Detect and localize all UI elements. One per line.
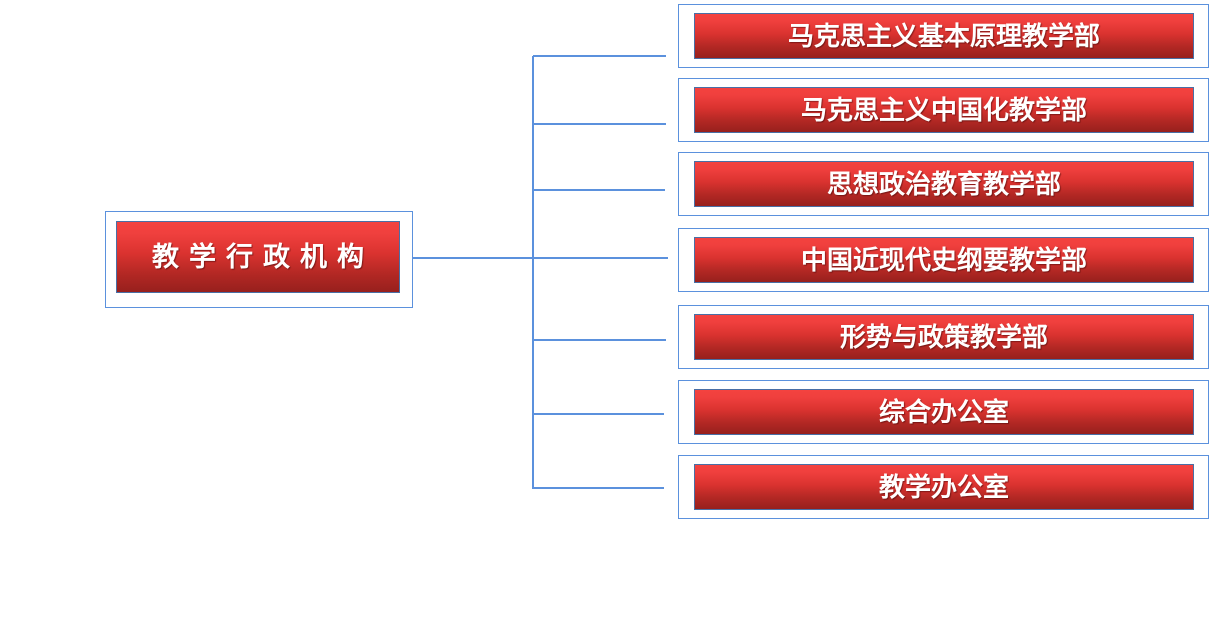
org-node-child-4-label: 中国近现代史纲要教学部: [801, 247, 1087, 273]
org-node-child-1-plate: 马克思主义基本原理教学部: [694, 13, 1194, 59]
org-node-child-5[interactable]: 形势与政策教学部: [678, 305, 1209, 369]
org-node-root-plate: 教学行政机构: [116, 221, 400, 293]
org-node-child-6-label: 综合办公室: [879, 399, 1009, 425]
org-node-child-3-label: 思想政治教育教学部: [827, 171, 1061, 197]
org-node-child-7-plate: 教学办公室: [694, 464, 1194, 510]
org-node-child-2-label: 马克思主义中国化教学部: [801, 97, 1087, 123]
org-node-child-4[interactable]: 中国近现代史纲要教学部: [678, 228, 1209, 292]
org-node-child-5-plate: 形势与政策教学部: [694, 314, 1194, 360]
org-node-child-2[interactable]: 马克思主义中国化教学部: [678, 78, 1209, 142]
org-node-child-6-plate: 综合办公室: [694, 389, 1194, 435]
org-node-child-6[interactable]: 综合办公室: [678, 380, 1209, 444]
org-node-child-7[interactable]: 教学办公室: [678, 455, 1209, 519]
org-node-child-5-label: 形势与政策教学部: [840, 324, 1048, 350]
org-node-root-label: 教学行政机构: [142, 244, 374, 271]
org-chart-canvas: 教学行政机构 马克思主义基本原理教学部 马克思主义中国化教学部 思想政治教育教学…: [0, 0, 1226, 621]
org-node-child-2-plate: 马克思主义中国化教学部: [694, 87, 1194, 133]
org-node-child-3[interactable]: 思想政治教育教学部: [678, 152, 1209, 216]
org-node-child-3-plate: 思想政治教育教学部: [694, 161, 1194, 207]
org-node-child-1[interactable]: 马克思主义基本原理教学部: [678, 4, 1209, 68]
org-node-child-7-label: 教学办公室: [879, 474, 1009, 500]
org-node-root[interactable]: 教学行政机构: [105, 211, 413, 308]
org-node-child-4-plate: 中国近现代史纲要教学部: [694, 237, 1194, 283]
org-node-child-1-label: 马克思主义基本原理教学部: [788, 23, 1100, 49]
